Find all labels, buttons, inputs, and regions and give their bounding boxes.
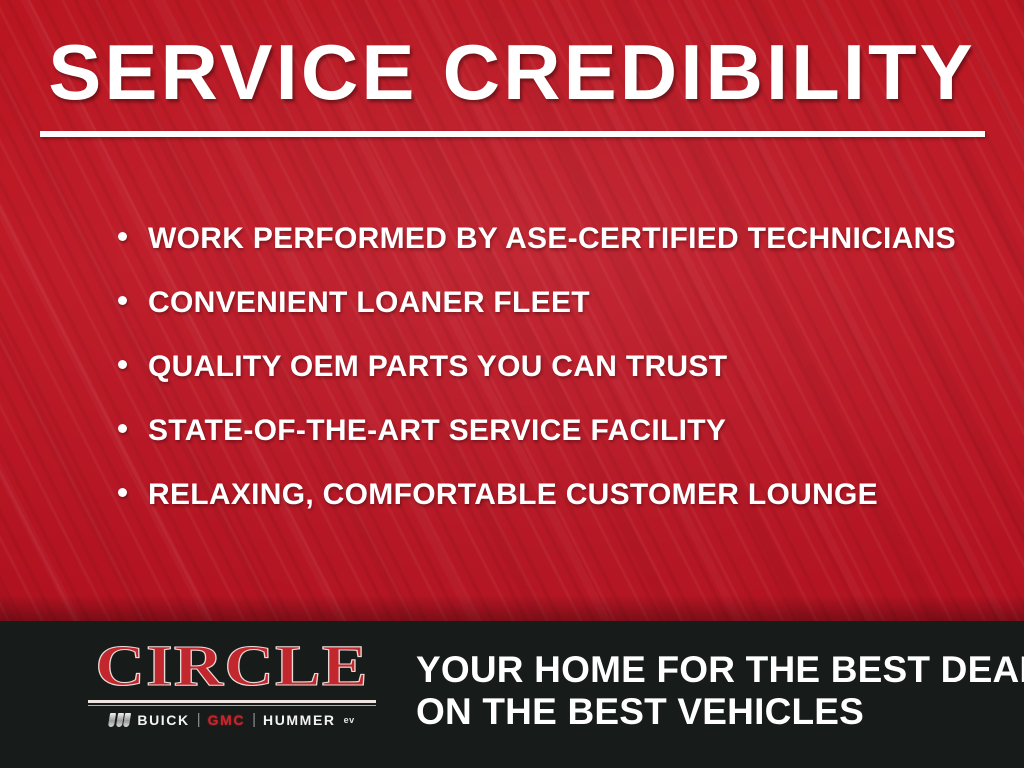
bullet-dot-icon [118, 232, 127, 241]
brand-label-hummer: HUMMER [263, 713, 336, 727]
list-item-label: QUALITY OEM PARTS YOU CAN TRUST [148, 350, 727, 384]
slide-root: SERVICE CREDIBILITY WORK PERFORMED BY AS… [0, 0, 1024, 768]
brand-strip: BUICK | GMC | HUMMER ev [88, 711, 376, 729]
brand-label-gmc: GMC [208, 713, 245, 727]
dealership-logo: CIRCLE BUICK | GMC | HUMMER ev [88, 637, 376, 729]
list-item: CONVENIENT LOANER FLEET [118, 286, 988, 350]
list-item-label: RELAXING, COMFORTABLE CUSTOMER LOUNGE [148, 478, 878, 512]
footer-tagline: YOUR HOME FOR THE BEST DEALS ON THE BEST… [416, 649, 1024, 733]
brand-separator-icon: | [252, 712, 256, 727]
bullet-dot-icon [118, 488, 127, 497]
logo-divider-rule [88, 700, 376, 703]
brand-separator-icon: | [197, 712, 201, 727]
bullet-list: WORK PERFORMED BY ASE-CERTIFIED TECHNICI… [118, 222, 988, 542]
logo-wordmark: CIRCLE [62, 637, 402, 695]
panel-bottom-shadow [0, 595, 1024, 621]
list-item: RELAXING, COMFORTABLE CUSTOMER LOUNGE [118, 478, 988, 542]
list-item: WORK PERFORMED BY ASE-CERTIFIED TECHNICI… [118, 222, 988, 286]
logo-divider-rule-thin [88, 705, 376, 706]
list-item: STATE-OF-THE-ART SERVICE FACILITY [118, 414, 988, 478]
title-underline-rule [40, 131, 985, 137]
bullet-dot-icon [118, 424, 127, 433]
list-item-label: CONVENIENT LOANER FLEET [148, 286, 590, 320]
footer-tagline-line-2: ON THE BEST VEHICLES [416, 691, 1024, 733]
buick-tri-shield-icon [109, 713, 130, 727]
bullet-dot-icon [118, 360, 127, 369]
bullet-dot-icon [118, 296, 127, 305]
list-item-label: STATE-OF-THE-ART SERVICE FACILITY [148, 414, 726, 448]
page-title: SERVICE CREDIBILITY [0, 33, 1024, 113]
footer-bar: CIRCLE BUICK | GMC | HUMMER ev YOUR HOME… [0, 621, 1024, 768]
brand-label-buick: BUICK [137, 713, 189, 727]
footer-tagline-line-1: YOUR HOME FOR THE BEST DEALS [416, 649, 1024, 691]
list-item: QUALITY OEM PARTS YOU CAN TRUST [118, 350, 988, 414]
brand-label-hummer-ev-suffix: ev [344, 716, 355, 725]
list-item-label: WORK PERFORMED BY ASE-CERTIFIED TECHNICI… [148, 222, 956, 256]
